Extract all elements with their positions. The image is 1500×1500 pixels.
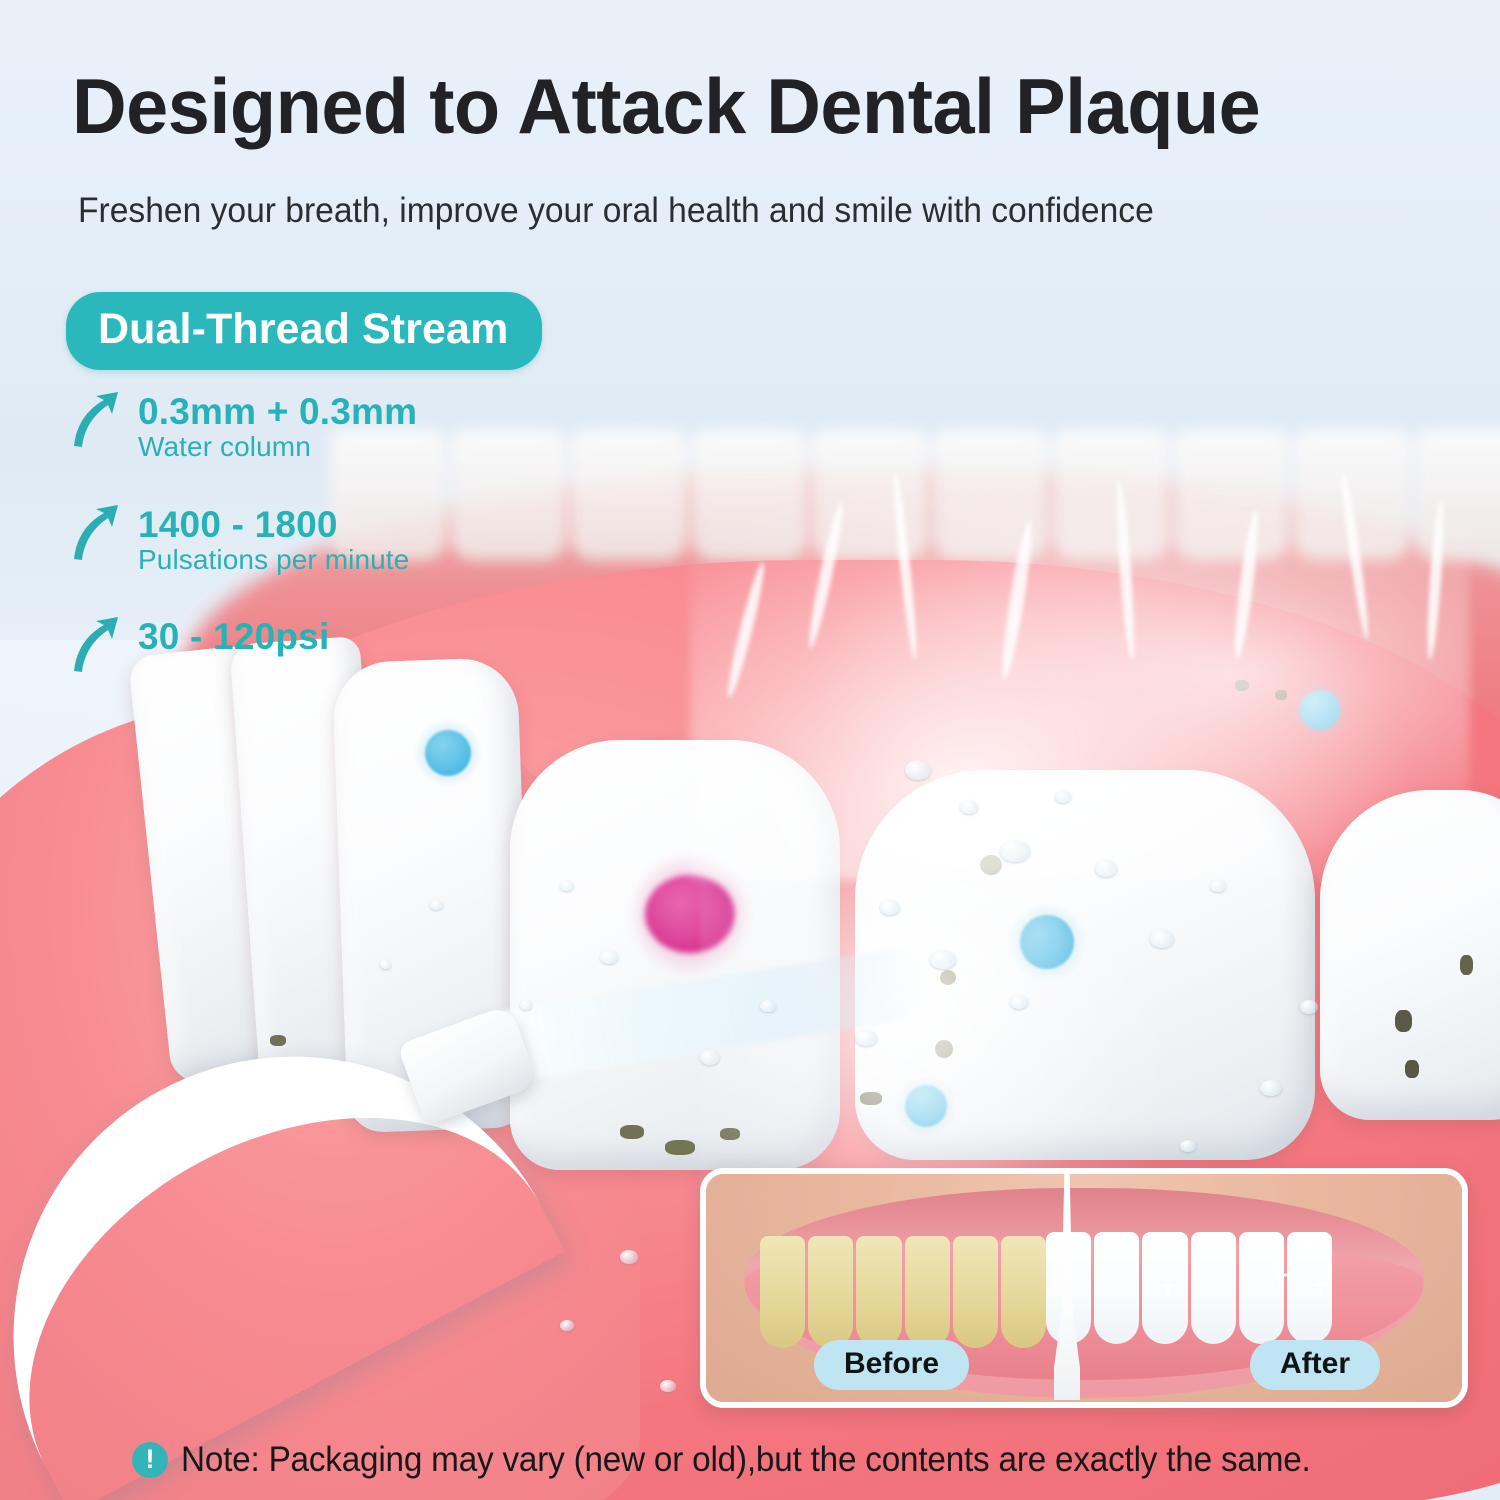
germ-icon bbox=[425, 730, 471, 776]
after-label: After bbox=[1250, 1340, 1380, 1390]
four-point-star-icon bbox=[1158, 1276, 1178, 1301]
feature-value: 1400 - 1800 bbox=[138, 505, 630, 544]
four-point-star-icon bbox=[1298, 1234, 1314, 1255]
before-after-inset: Before After bbox=[700, 1168, 1468, 1408]
before-label: Before bbox=[814, 1340, 969, 1390]
four-point-star-icon bbox=[1266, 1262, 1292, 1293]
dual-thread-stream-badge: Dual-Thread Stream bbox=[66, 292, 542, 370]
list-item: 1400 - 1800 Pulsations per minute bbox=[70, 505, 630, 576]
product-feature-image: Designed to Attack Dental Plaque Freshen… bbox=[0, 0, 1500, 1500]
feature-list: 0.3mm + 0.3mm Water column 1400 - 1800 P… bbox=[70, 392, 630, 719]
feature-caption: Water column bbox=[138, 431, 630, 462]
list-item: 0.3mm + 0.3mm Water column bbox=[70, 392, 630, 463]
page-title: Designed to Attack Dental Plaque bbox=[72, 66, 1430, 148]
smile-comparison-photo: Before After bbox=[706, 1174, 1462, 1402]
list-item: 30 - 120psi bbox=[70, 617, 630, 677]
feature-value: 0.3mm + 0.3mm bbox=[138, 392, 630, 431]
page-subtitle: Freshen your breath, improve your oral h… bbox=[78, 190, 1403, 232]
feature-caption: Pulsations per minute bbox=[138, 544, 630, 575]
feature-value: 30 - 120psi bbox=[138, 617, 630, 656]
note-bar: ! Note: Packaging may vary (new or old),… bbox=[132, 1440, 1370, 1480]
curved-up-arrow-icon bbox=[70, 390, 122, 448]
curved-up-arrow-icon bbox=[70, 503, 122, 561]
note-text: Note: Packaging may vary (new or old),bu… bbox=[181, 1440, 1311, 1480]
exclamation-circle-icon: ! bbox=[132, 1442, 168, 1478]
curved-up-arrow-icon bbox=[70, 615, 122, 673]
before-teeth bbox=[760, 1236, 1046, 1348]
four-point-star-icon bbox=[1310, 1274, 1332, 1301]
